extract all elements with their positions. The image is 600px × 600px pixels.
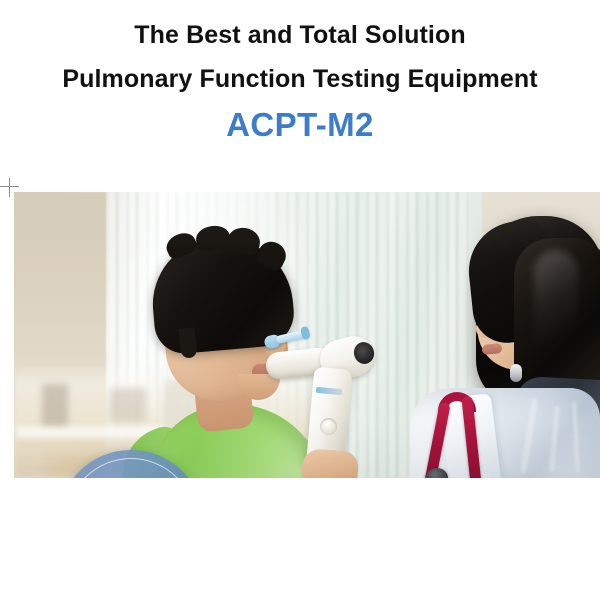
tagline-line-2: Pulmonary Function Testing Equipment bbox=[0, 62, 600, 96]
patient-hand-holding-spirometer bbox=[301, 448, 359, 478]
header-text-block: The Best and Total Solution Pulmonary Fu… bbox=[0, 0, 600, 160]
product-hero-photo: The Best ACPT-M2 bbox=[14, 192, 600, 478]
tagline-line-1: The Best and Total Solution bbox=[0, 18, 600, 52]
crop-mark-horizontal-line bbox=[0, 186, 19, 187]
crop-mark-vertical-line bbox=[9, 178, 10, 197]
product-model-name: ACPT-M2 bbox=[0, 104, 600, 146]
